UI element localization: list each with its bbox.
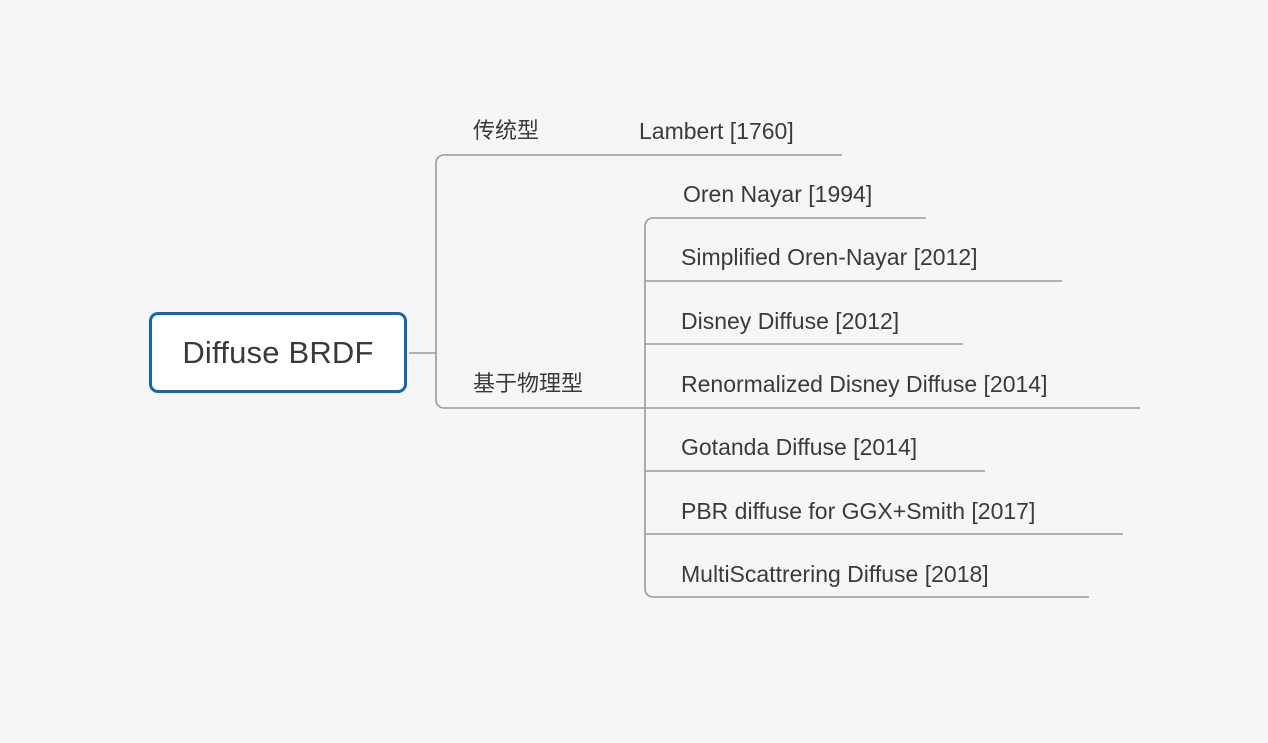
node-lambert[interactable]: Lambert [1760] [639,120,794,143]
node-lambert-label: Lambert [1760] [639,118,794,144]
mindmap-canvas: Diffuse BRDF 传统型 Lambert [1760] 基于物理型 Or… [0,0,1268,743]
branch-label-traditional[interactable]: 传统型 [473,120,539,142]
node-gotanda-diffuse[interactable]: Gotanda Diffuse [2014] [681,436,917,459]
node-pbr-diffuse-ggx-smith-label: PBR diffuse for GGX+Smith [2017] [681,498,1035,524]
branch-label-physically-based-text: 基于物理型 [473,371,583,396]
branch-label-traditional-text: 传统型 [473,118,539,143]
node-simplified-oren-nayar[interactable]: Simplified Oren-Nayar [2012] [681,246,978,269]
root-node-label: Diffuse BRDF [182,335,373,371]
node-multiscattering-diffuse-label: MultiScattrering Diffuse [2018] [681,561,989,587]
node-renormalized-disney-diffuse[interactable]: Renormalized Disney Diffuse [2014] [681,373,1047,396]
node-oren-nayar[interactable]: Oren Nayar [1994] [683,183,872,206]
node-simplified-oren-nayar-label: Simplified Oren-Nayar [2012] [681,244,978,270]
node-multiscattering-diffuse[interactable]: MultiScattrering Diffuse [2018] [681,563,989,586]
node-pbr-diffuse-ggx-smith[interactable]: PBR diffuse for GGX+Smith [2017] [681,500,1035,523]
node-gotanda-diffuse-label: Gotanda Diffuse [2014] [681,434,917,460]
node-oren-nayar-label: Oren Nayar [1994] [683,181,872,207]
root-node[interactable]: Diffuse BRDF [149,312,407,393]
node-disney-diffuse-label: Disney Diffuse [2012] [681,308,899,334]
node-disney-diffuse[interactable]: Disney Diffuse [2012] [681,310,899,333]
connector-level2-spine [645,218,1089,597]
node-renormalized-disney-diffuse-label: Renormalized Disney Diffuse [2014] [681,371,1047,397]
branch-label-physically-based[interactable]: 基于物理型 [473,373,583,395]
